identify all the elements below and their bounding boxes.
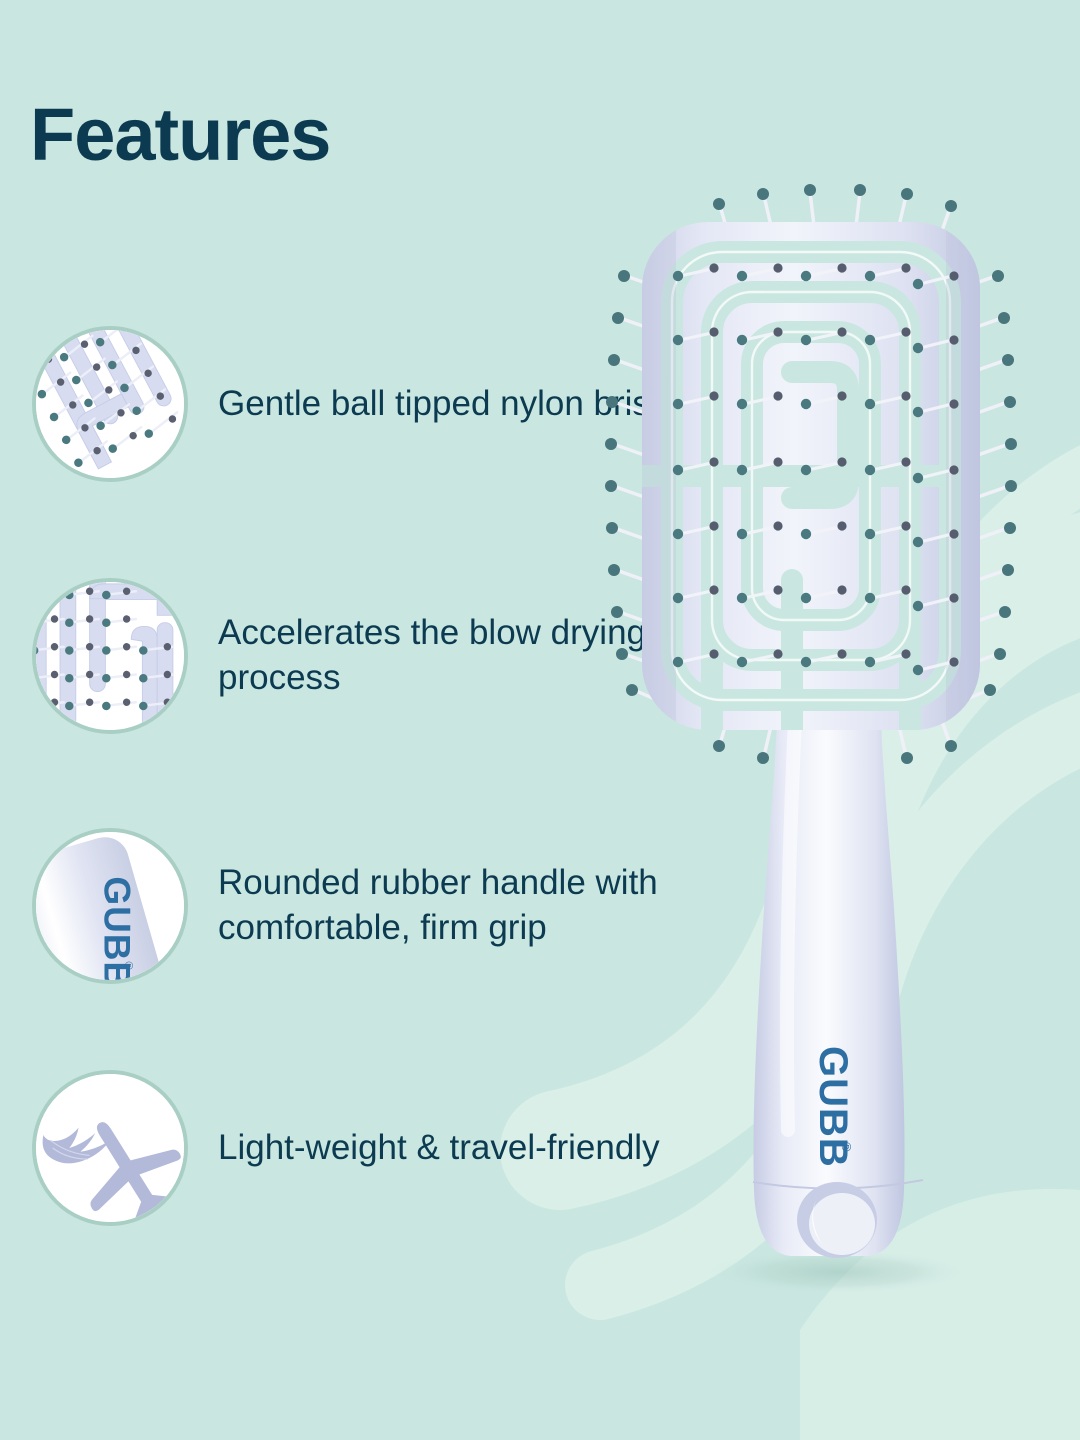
feature-item-travel: Light-weight & travel-friendly: [0, 1070, 660, 1226]
bristle-closeup-icon: [32, 326, 188, 482]
feature-label: Light-weight & travel-friendly: [218, 1126, 660, 1171]
vented-bristle-closeup-icon: [32, 578, 188, 734]
product-image-hair-brush: GUBB ®: [620, 180, 1080, 1340]
brand-registered-mark: ®: [839, 1142, 854, 1152]
page-title: Features: [30, 98, 330, 172]
feather-airplane-icon: [32, 1070, 188, 1226]
brand-logo: GUBB ®: [811, 1046, 855, 1168]
handle-logo-closeup-icon: GUBB ®: [32, 828, 188, 984]
svg-text:®: ®: [122, 962, 134, 970]
feature-item-bristles: Gentle ball tipped nylon bristles: [0, 326, 704, 482]
